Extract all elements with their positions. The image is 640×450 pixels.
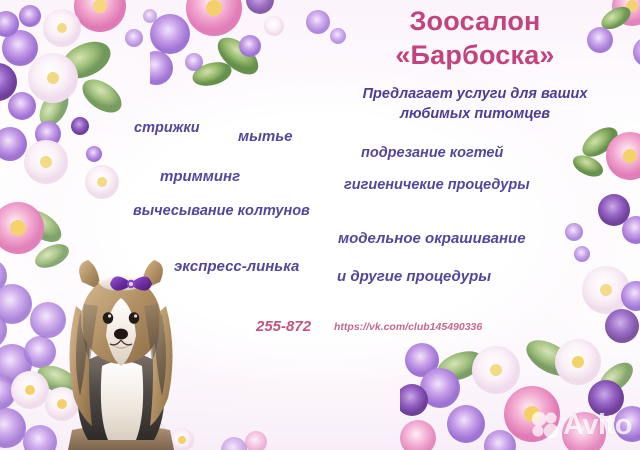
poster-canvas: Зоосалон «Барбоска» Предлагает услуги дл… bbox=[0, 0, 640, 450]
title-block: Зоосалон «Барбоска» bbox=[330, 0, 620, 78]
subtitle-line1: Предлагает услуги для ваших bbox=[330, 86, 620, 102]
salon-title-line2: «Барбоска» bbox=[330, 40, 620, 71]
dog-photo bbox=[58, 248, 184, 450]
service-item: вычесывание колтунов bbox=[133, 203, 310, 219]
service-item: модельное окрашивание bbox=[338, 230, 526, 247]
subtitle-line2: любимых питомцев bbox=[330, 106, 620, 122]
service-item: и другие процедуры bbox=[337, 268, 491, 285]
avito-watermark: Avito bbox=[530, 410, 632, 440]
avito-watermark-label: Avito bbox=[563, 411, 632, 440]
salon-title-line1: Зоосалон bbox=[330, 6, 620, 37]
avito-logo-icon bbox=[530, 410, 560, 440]
service-item: подрезание когтей bbox=[361, 145, 503, 161]
phone-number[interactable]: 255-872 bbox=[256, 318, 311, 335]
service-item: стрижки bbox=[134, 120, 200, 136]
service-item: тримминг bbox=[160, 168, 240, 185]
service-item: экспресс-линька bbox=[174, 258, 299, 275]
service-item: гигиеничекие процедуры bbox=[344, 177, 530, 193]
vk-group-link[interactable]: https://vk.com/club145490336 bbox=[334, 321, 482, 333]
service-item: мытье bbox=[238, 128, 293, 145]
